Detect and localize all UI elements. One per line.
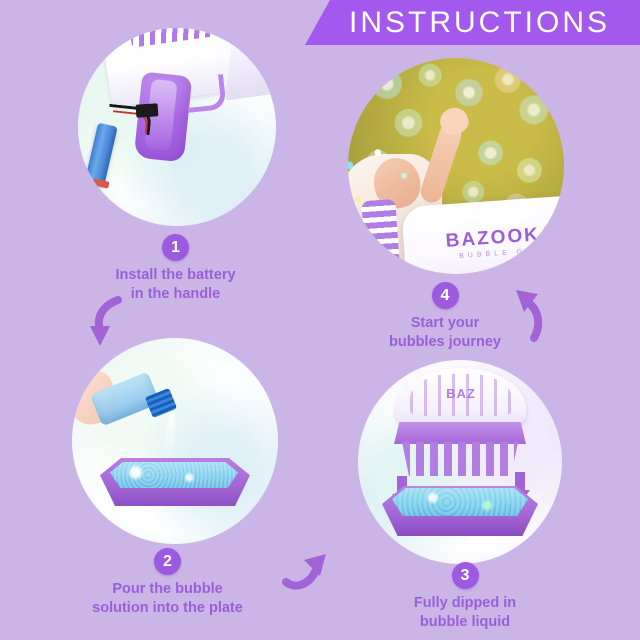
step-3-label: Fully dipped in bubble liquid: [340, 594, 590, 632]
instruction-poster: BAZOOKA BUBBLE GUN BAZ INSTRUCTIONS 1: [0, 0, 640, 640]
step-2-label: Pour the bubble solution into the plate: [30, 580, 305, 618]
gun-barrel-shape: [225, 39, 276, 100]
battery-cell: [84, 123, 117, 188]
photo-step-1: [78, 28, 276, 226]
bubble-wand-array: [402, 442, 518, 476]
step-1-caption: 1 Install the battery in the handle: [38, 234, 313, 304]
arrow-step3-to-step4-icon: [512, 288, 552, 342]
bubble-liquid-in-plate: [110, 462, 238, 488]
photo-step-3: BAZ: [358, 360, 562, 564]
bubble-liquid-filled: [392, 488, 528, 516]
arrow-step1-to-step2-icon: [88, 296, 132, 352]
gun-trigger-shape: [184, 74, 226, 113]
bazooka-wand-head: [361, 199, 400, 274]
page-title: INSTRUCTIONS: [335, 8, 610, 38]
step-4-badge: 4: [432, 282, 459, 309]
arrow-step2-to-step3-icon: [282, 552, 330, 594]
step-3-badge: 3: [452, 562, 479, 589]
wand-mount-plate: [394, 422, 526, 444]
instructions-banner: INSTRUCTIONS: [305, 0, 640, 45]
step-3-caption: 3 Fully dipped in bubble liquid: [340, 562, 590, 632]
step-1-badge: 1: [162, 234, 189, 261]
battery-connector: [136, 103, 159, 118]
step-2-badge: 2: [154, 548, 181, 575]
step-1-label: Install the battery in the handle: [38, 266, 313, 304]
photo-step-4: BAZOOKA BUBBLE GUN: [348, 58, 564, 274]
photo-step-2: [72, 338, 278, 544]
battery-terminal: [92, 178, 109, 188]
nozzle-brand-mark: BAZ: [426, 386, 496, 401]
step-2-caption: 2 Pour the bubble solution into the plat…: [30, 548, 305, 618]
